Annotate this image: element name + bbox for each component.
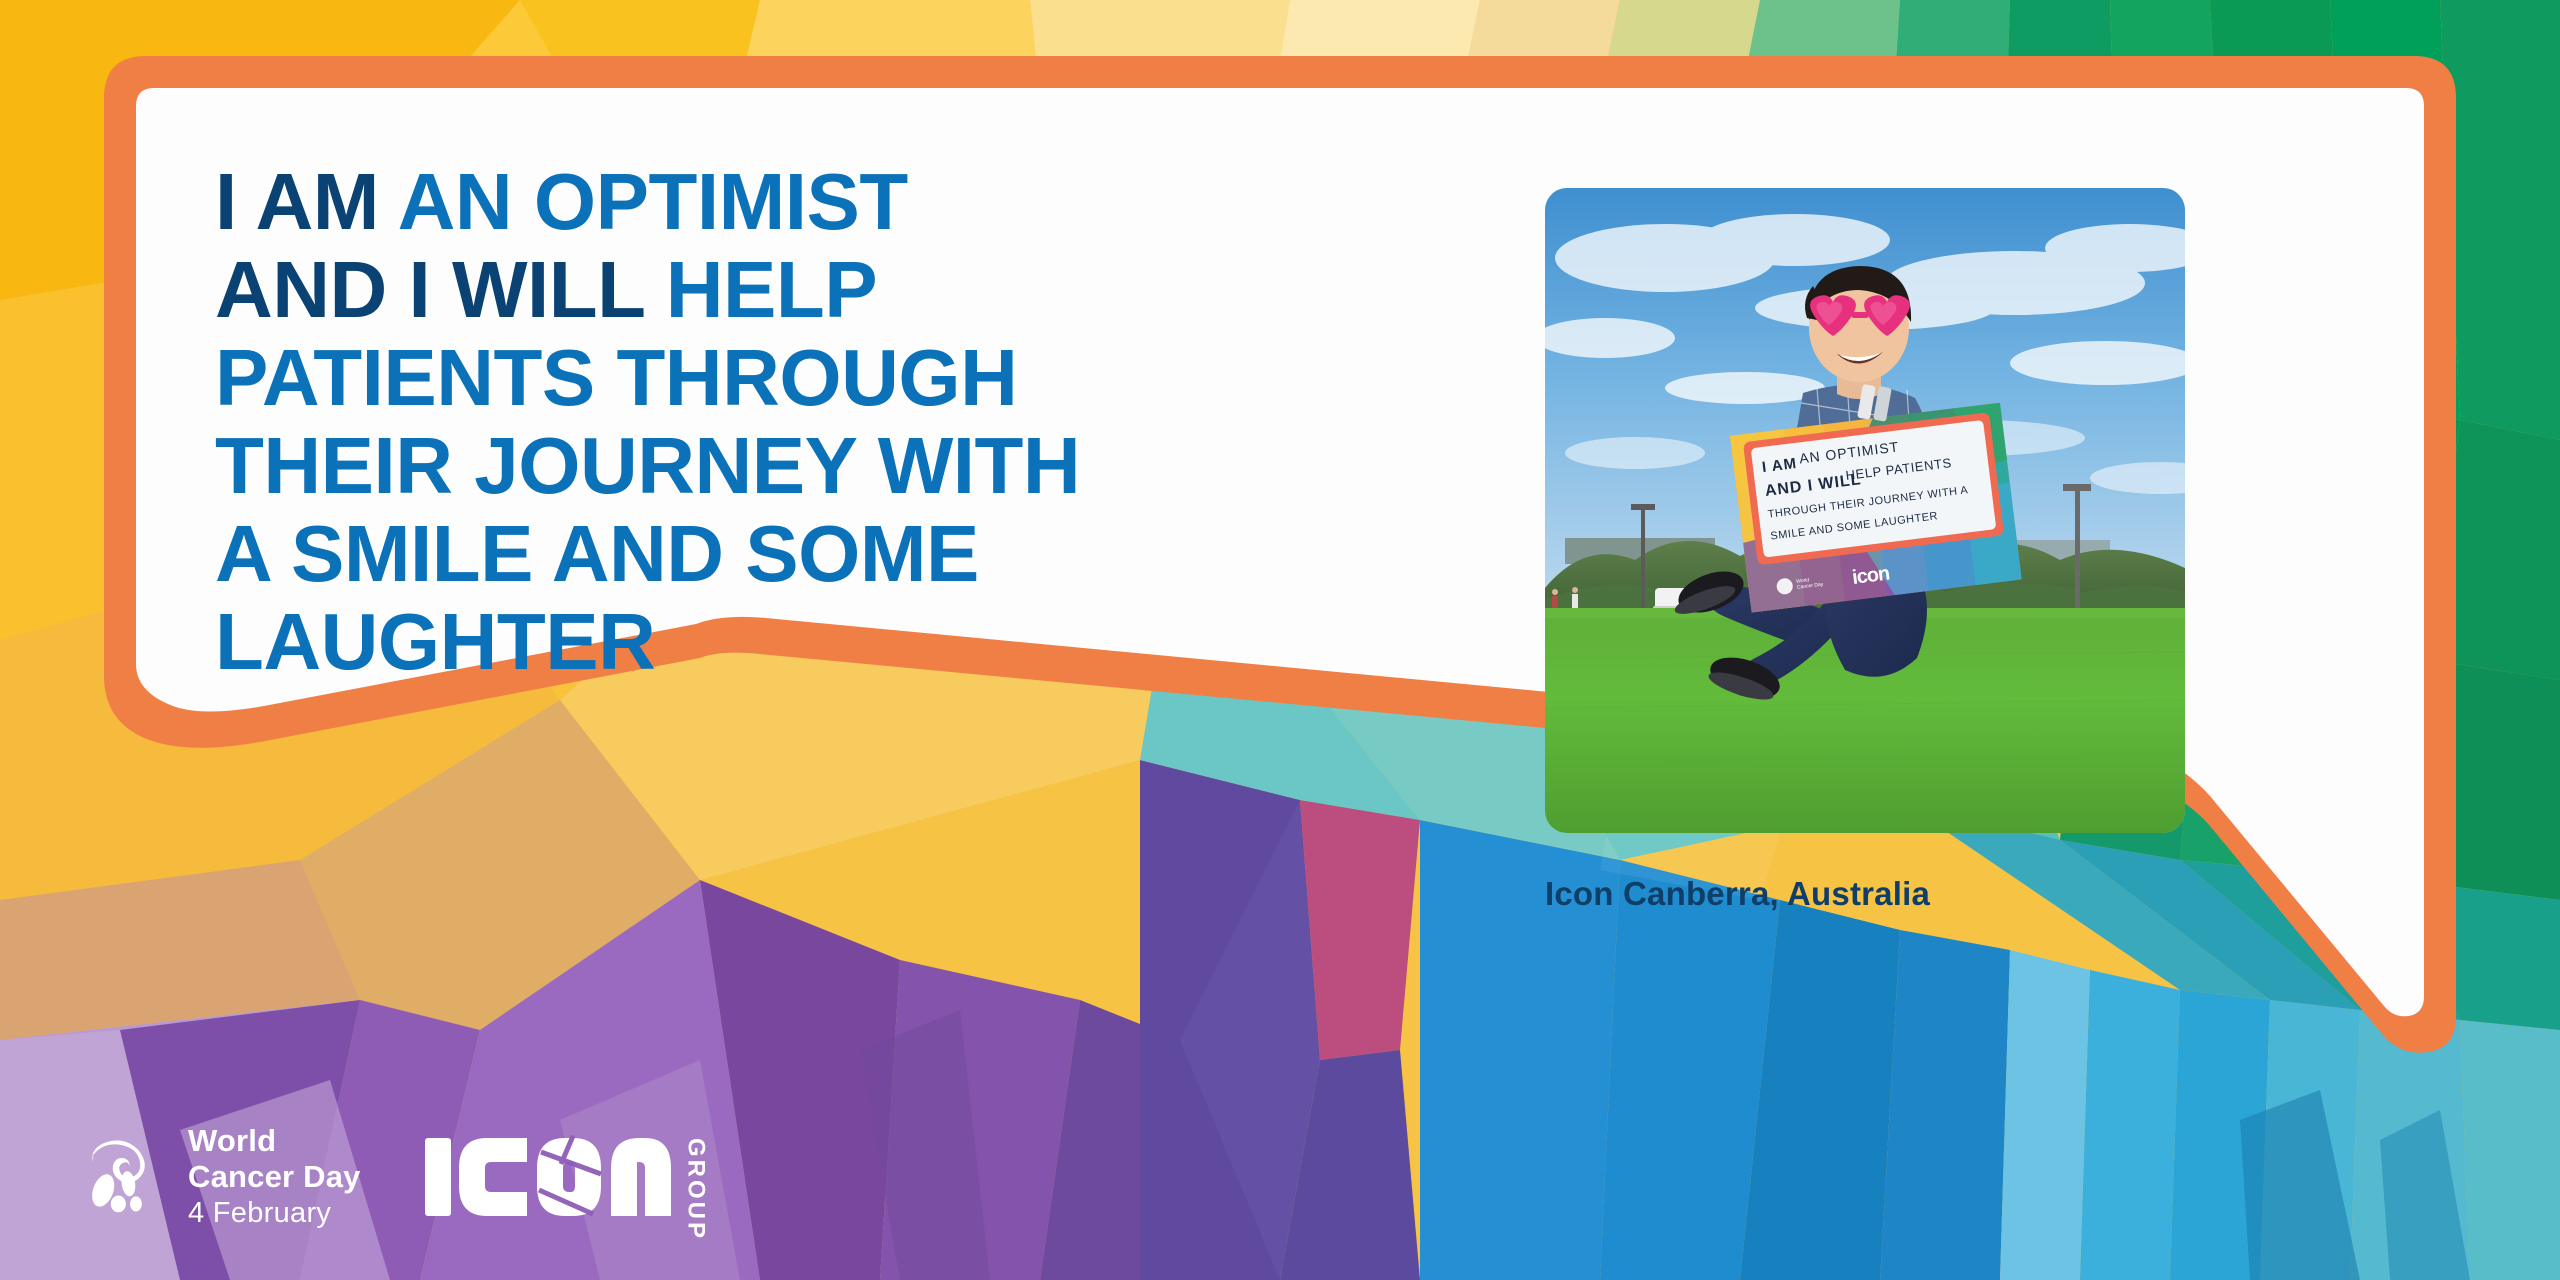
photo-caption: Icon Canberra, Australia xyxy=(1545,875,2185,913)
world-cancer-day-logo: World Cancer Day 4 February xyxy=(78,1125,361,1228)
world-cancer-day-mark-icon xyxy=(78,1135,162,1219)
headline-line-3: PATIENTS THROUGH xyxy=(215,334,1485,422)
headline-line-6: LAUGHTER xyxy=(215,598,1485,686)
participant-photo: I AM AN OPTIMIST AND I WILL HELP PATIENT… xyxy=(1545,188,2185,833)
headline: I AM AN OPTIMIST AND I WILL HELP PATIENT… xyxy=(215,158,1485,686)
poster-canvas: I AM AN OPTIMIST AND I WILL HELP PATIENT… xyxy=(0,0,2560,1280)
wcd-line-3: 4 February xyxy=(188,1199,361,1228)
photo-block: I AM AN OPTIMIST AND I WILL HELP PATIENT… xyxy=(1545,188,2185,913)
svg-text:icon: icon xyxy=(1851,563,1891,589)
icon-wordmark-icon xyxy=(423,1134,673,1220)
headline-seg: A SMILE AND SOME xyxy=(215,509,979,598)
headline-line-5: A SMILE AND SOME xyxy=(215,510,1485,598)
speech-bubble: I AM AN OPTIMIST AND I WILL HELP PATIENT… xyxy=(60,36,2500,1076)
wcd-line-2: Cancer Day xyxy=(188,1161,361,1192)
icon-group-logo: GROUP xyxy=(423,1134,710,1220)
icon-group-suffix: GROUP xyxy=(682,1134,710,1220)
headline-seg: HELP xyxy=(666,245,877,334)
headline-seg: LAUGHTER xyxy=(215,597,655,686)
headline-line-4: THEIR JOURNEY WITH xyxy=(215,422,1485,510)
wcd-line-1: World xyxy=(188,1125,361,1156)
headline-line-1: I AM AN OPTIMIST xyxy=(215,158,1485,246)
headline-seg: PATIENTS THROUGH xyxy=(215,333,1017,422)
headline-seg: AND I WILL xyxy=(215,245,666,334)
headline-seg: AN OPTIMIST xyxy=(398,157,908,246)
headline-line-2: AND I WILL HELP xyxy=(215,246,1485,334)
headline-seg: THEIR JOURNEY WITH xyxy=(215,421,1080,510)
footer-logos: World Cancer Day 4 February xyxy=(78,1125,710,1228)
headline-seg: I AM xyxy=(215,157,398,246)
